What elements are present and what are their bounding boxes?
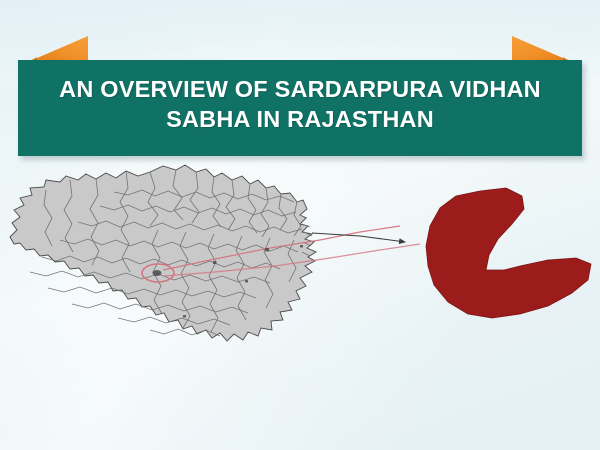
slide-canvas: AN OVERVIEW OF SARDARPURA VIDHAN SABHA I… [0, 0, 600, 450]
ribbon-tail-left-icon [28, 36, 88, 62]
sardarpura-constituency-shape [0, 160, 600, 390]
title-banner: AN OVERVIEW OF SARDARPURA VIDHAN SABHA I… [0, 36, 600, 160]
ribbon-tail-right-icon [512, 36, 572, 62]
map-illustration [0, 160, 600, 390]
banner-body: AN OVERVIEW OF SARDARPURA VIDHAN SABHA I… [18, 60, 582, 156]
page-title: AN OVERVIEW OF SARDARPURA VIDHAN SABHA I… [18, 74, 582, 134]
